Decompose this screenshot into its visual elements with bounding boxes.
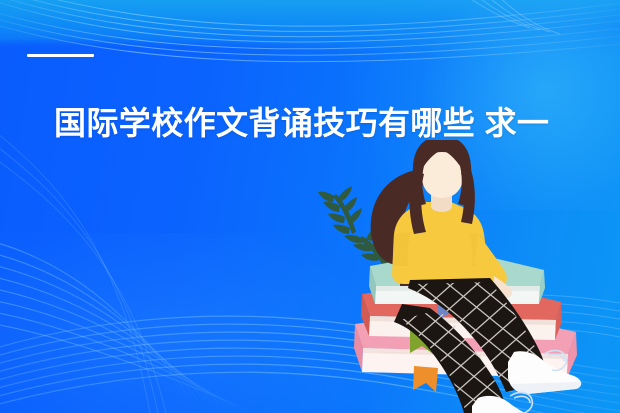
bookmark-orange-icon (413, 366, 438, 392)
accent-rule (27, 54, 94, 57)
figure-shirt-yellow (392, 202, 489, 284)
promo-banner: 国际学校作文背诵技巧有哪些 求一 (0, 0, 620, 413)
illustration-woman-on-books (318, 140, 620, 413)
